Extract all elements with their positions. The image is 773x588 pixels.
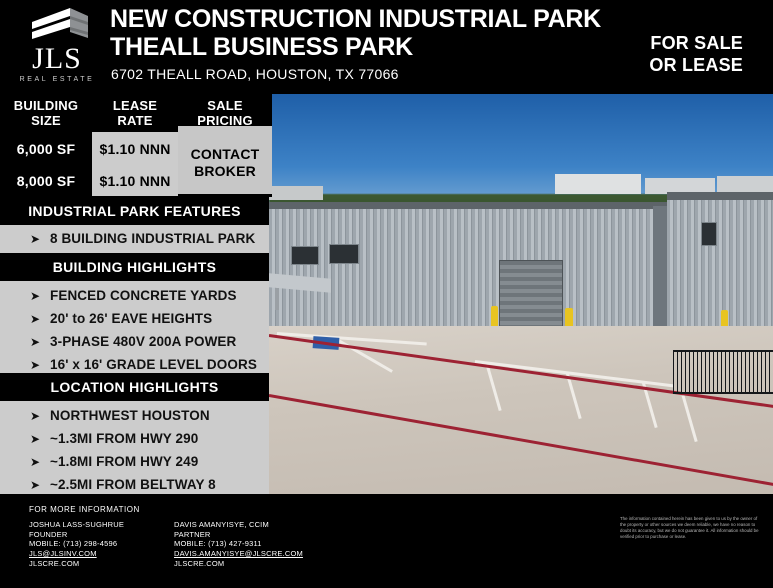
flyer-header: JLS REAL ESTATE NEW CONSTRUCTION INDUSTR… [0, 0, 773, 94]
building-window [329, 244, 359, 264]
contact-mobile: MOBILE: (713) 427-9311 [174, 539, 262, 549]
jls-logo: JLS REAL ESTATE [14, 6, 100, 88]
bullet-icon: ➤ [30, 409, 40, 423]
highlight-item: FENCED CONCRETE YARDS [50, 288, 237, 303]
building-logo-icon [30, 8, 92, 46]
bullet-icon: ➤ [30, 432, 40, 446]
section-heading-industrial-park-features: INDUSTRIAL PARK FEATURES [0, 203, 269, 219]
column-header-building-size: BUILDING SIZE [0, 98, 92, 128]
highlight-item: 3-PHASE 480V 200A POWER [50, 334, 236, 349]
logo-tagline: REAL ESTATE [14, 76, 100, 83]
property-flyer: JLS REAL ESTATE NEW CONSTRUCTION INDUSTR… [0, 0, 773, 588]
sale-pricing-line2: BROKER [178, 163, 272, 180]
building-roof-edge [269, 202, 699, 209]
highlight-item: 16' x 16' GRADE LEVEL DOORS [50, 357, 257, 372]
column-header-line1: SALE [178, 98, 272, 113]
section-heading-location-highlights: LOCATION HIGHLIGHTS [0, 379, 269, 395]
sale-pricing-value: CONTACT BROKER [178, 146, 272, 180]
column-header-line2: RATE [92, 113, 178, 128]
property-photo [269, 94, 773, 494]
column-header-line1: LEASE [92, 98, 178, 113]
background-building [269, 186, 323, 200]
offering-line2: OR LEASE [649, 54, 743, 76]
bullet-icon: ➤ [30, 312, 40, 326]
building-corner [653, 206, 667, 332]
bullet-icon: ➤ [30, 455, 40, 469]
building-size-value: 6,000 SF [0, 141, 92, 157]
bullet-icon: ➤ [30, 478, 40, 492]
offering-line1: FOR SALE [649, 32, 743, 54]
contact-website[interactable]: JLSCRE.COM [29, 559, 79, 569]
building-window [701, 222, 717, 246]
contact-email-link[interactable]: DAVIS.AMANYISYE@JLSCRE.COM [174, 549, 303, 559]
page-title-line2: THEALL BUSINESS PARK [110, 33, 413, 61]
location-item: ~1.3MI FROM HWY 290 [50, 431, 198, 446]
column-header-line1: BUILDING [0, 98, 92, 113]
contact-website[interactable]: JLSCRE.COM [174, 559, 224, 569]
entry-canopy-post [275, 288, 279, 310]
highlight-item: 20' to 26' EAVE HEIGHTS [50, 311, 212, 326]
bullet-icon: ➤ [30, 358, 40, 372]
contact-email-link[interactable]: JLS@JLSINV.COM [29, 549, 97, 559]
contact-name: JOSHUA LASS-SUGHRUE [29, 520, 124, 530]
building-size-value: 8,000 SF [0, 173, 92, 189]
grade-level-door [499, 260, 563, 334]
feature-item: 8 BUILDING INDUSTRIAL PARK [50, 231, 255, 246]
logo-wordmark: JLS [14, 44, 100, 74]
building-window [291, 246, 319, 265]
column-header-lease-rate: LEASE RATE [92, 98, 178, 128]
flyer-footer: FOR MORE INFORMATION JOSHUA LASS-SUGHRUE… [0, 494, 773, 588]
background-building [555, 174, 641, 194]
contact-name: DAVIS AMANYISYE, CCIM [174, 520, 269, 530]
bullet-icon: ➤ [30, 232, 40, 246]
location-item: ~2.5MI FROM BELTWAY 8 [50, 477, 216, 492]
lease-rate-value: $1.10 NNN [92, 173, 178, 189]
page-title-line1: NEW CONSTRUCTION INDUSTRIAL PARK [110, 5, 601, 33]
more-info-label: FOR MORE INFORMATION [29, 505, 140, 514]
section-heading-building-highlights: BUILDING HIGHLIGHTS [0, 259, 269, 275]
lease-rate-value: $1.10 NNN [92, 141, 178, 157]
bullet-icon: ➤ [30, 289, 40, 303]
warehouse-wall [269, 209, 699, 329]
location-item: ~1.8MI FROM HWY 249 [50, 454, 198, 469]
building-roof-edge [667, 192, 773, 200]
column-header-sale-pricing: SALE PRICING [178, 98, 272, 128]
offering-type: FOR SALE OR LEASE [649, 32, 743, 76]
legal-disclaimer: The information contained herein has bee… [620, 516, 760, 540]
contact-mobile: MOBILE: (713) 298-4596 [29, 539, 117, 549]
location-item: NORTHWEST HOUSTON [50, 408, 210, 423]
metal-fence [673, 350, 773, 394]
property-address: 6702 THEALL ROAD, HOUSTON, TX 77066 [111, 66, 399, 82]
bullet-icon: ➤ [30, 335, 40, 349]
column-header-line2: SIZE [0, 113, 92, 128]
sale-pricing-line1: CONTACT [178, 146, 272, 163]
